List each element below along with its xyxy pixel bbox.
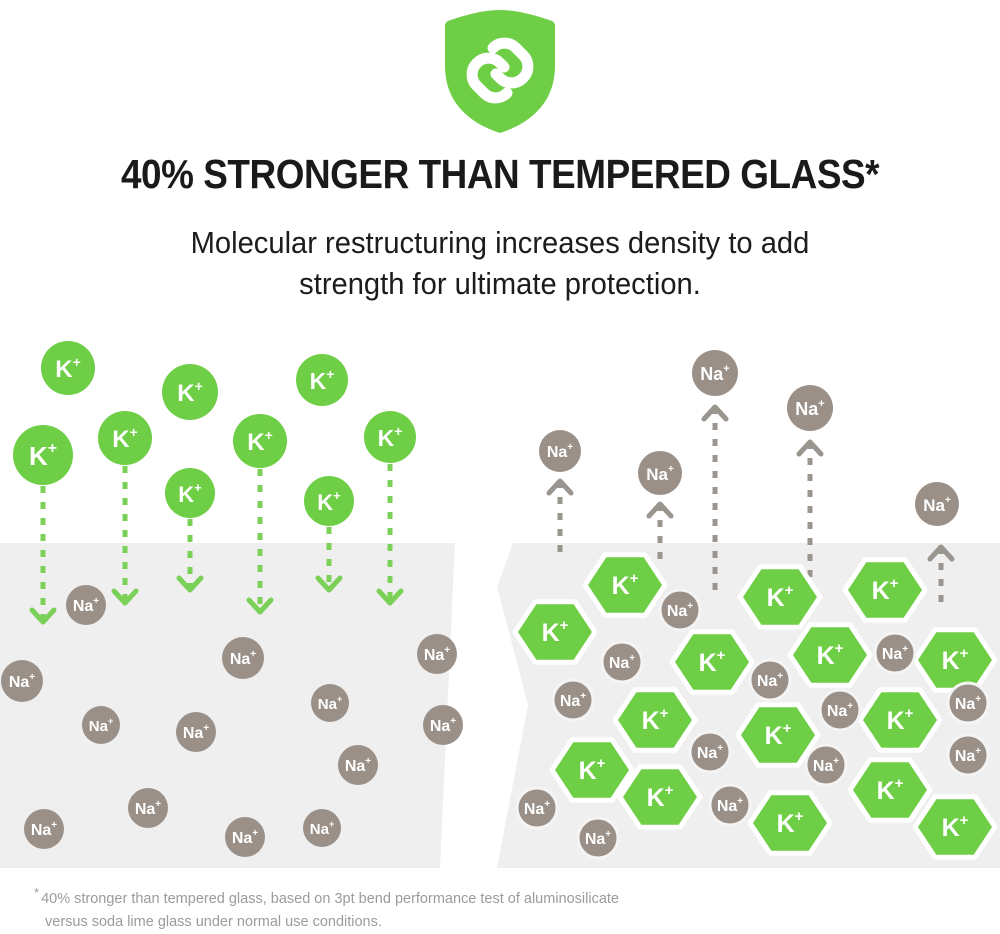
sodium-ion: Na+ — [128, 788, 168, 828]
sodium-ion: Na+ — [82, 706, 120, 744]
page-subtitle: Molecular restructuring increases densit… — [171, 222, 829, 304]
infographic-page: 40% STRONGER THAN TEMPERED GLASS* Molecu… — [0, 0, 1000, 927]
sodium-ion: Na+ — [66, 585, 106, 625]
sodium-ion-escaping: Na+ — [692, 350, 738, 396]
sodium-ion: Na+ — [176, 712, 216, 752]
sodium-ion: Na+ — [417, 634, 457, 674]
sodium-ion: Na+ — [303, 809, 341, 847]
right-escaping-sodium-ion-group: Na+Na+Na+Na+Na+ — [539, 350, 959, 526]
potassium-hexagon: K+ — [845, 560, 925, 621]
potassium-ion: K+ — [364, 411, 416, 463]
potassium-ion: K+ — [296, 354, 348, 406]
sodium-ion: Na+ — [338, 745, 378, 785]
potassium-ion: K+ — [304, 476, 354, 526]
potassium-hexagon: K+ — [740, 567, 820, 628]
potassium-hexagon: K+ — [620, 767, 700, 828]
footnote: *40% stronger than tempered glass, based… — [34, 881, 794, 934]
sodium-ion: Na+ — [602, 642, 642, 682]
left-glass-slab-body — [0, 543, 455, 868]
left-potassium-ion-group: K+K+K+K+K+K+K+K+K+ — [13, 341, 416, 526]
sodium-ion-escaping: Na+ — [787, 385, 833, 431]
sodium-ion-escaping: Na+ — [915, 482, 959, 526]
footnote-marker: * — [34, 885, 39, 900]
ion-exchange-diagram: Na+Na+Na+Na+Na+Na+Na+Na+Na+Na+Na+Na+Na+ … — [0, 300, 1000, 872]
potassium-hexagon: K+ — [790, 625, 870, 686]
potassium-ion: K+ — [165, 468, 215, 518]
page-title: 40% STRONGER THAN TEMPERED GLASS* — [50, 152, 950, 196]
sodium-ion: Na+ — [806, 745, 846, 785]
potassium-ion: K+ — [41, 341, 95, 395]
potassium-hexagon: K+ — [915, 630, 995, 691]
sodium-ion: Na+ — [311, 684, 349, 722]
potassium-hexagon: K+ — [615, 690, 695, 751]
sodium-ion: Na+ — [948, 683, 988, 723]
potassium-ion: K+ — [13, 425, 73, 485]
potassium-hexagon: K+ — [515, 602, 595, 663]
footnote-line-1: 40% stronger than tempered glass, based … — [41, 891, 619, 907]
sodium-ion-escaping: Na+ — [638, 451, 682, 495]
sodium-ion-escaping: Na+ — [539, 430, 581, 472]
sodium-ion: Na+ — [820, 690, 860, 730]
sodium-ion: Na+ — [875, 633, 915, 673]
sodium-ion: Na+ — [222, 637, 264, 679]
potassium-hexagon: K+ — [860, 690, 940, 751]
potassium-hexagon: K+ — [672, 632, 752, 693]
sodium-ion: Na+ — [578, 818, 618, 858]
potassium-hexagon: K+ — [552, 740, 632, 801]
sodium-ion: Na+ — [423, 705, 463, 745]
sodium-ion: Na+ — [1, 660, 43, 702]
potassium-ion: K+ — [162, 364, 218, 420]
shield-link-icon-container — [0, 8, 1000, 134]
subtitle-line-1: Molecular restructuring increases densit… — [171, 222, 829, 263]
sodium-ion: Na+ — [750, 660, 790, 700]
sodium-ion: Na+ — [660, 590, 700, 630]
diagram-canvas: Na+Na+Na+Na+Na+Na+Na+Na+Na+Na+Na+Na+Na+ … — [0, 300, 1000, 872]
potassium-hexagon: K+ — [850, 760, 930, 821]
shield-link-icon — [436, 8, 564, 134]
footnote-line-2: versus soda lime glass under normal use … — [45, 914, 382, 930]
potassium-hexagon: K+ — [738, 705, 818, 766]
subtitle-line-2: strength for ultimate protection. — [171, 263, 829, 304]
sodium-ion: Na+ — [24, 809, 64, 849]
sodium-ion: Na+ — [225, 817, 265, 857]
potassium-ion: K+ — [98, 411, 152, 465]
potassium-hexagon: K+ — [915, 797, 995, 858]
sodium-ion: Na+ — [948, 735, 988, 775]
sodium-ion: Na+ — [690, 732, 730, 772]
sodium-ion: Na+ — [553, 680, 593, 720]
potassium-hexagon: K+ — [750, 793, 830, 854]
sodium-ion: Na+ — [517, 788, 557, 828]
potassium-ion: K+ — [233, 414, 287, 468]
sodium-ion: Na+ — [710, 785, 750, 825]
potassium-hexagon: K+ — [585, 555, 665, 616]
